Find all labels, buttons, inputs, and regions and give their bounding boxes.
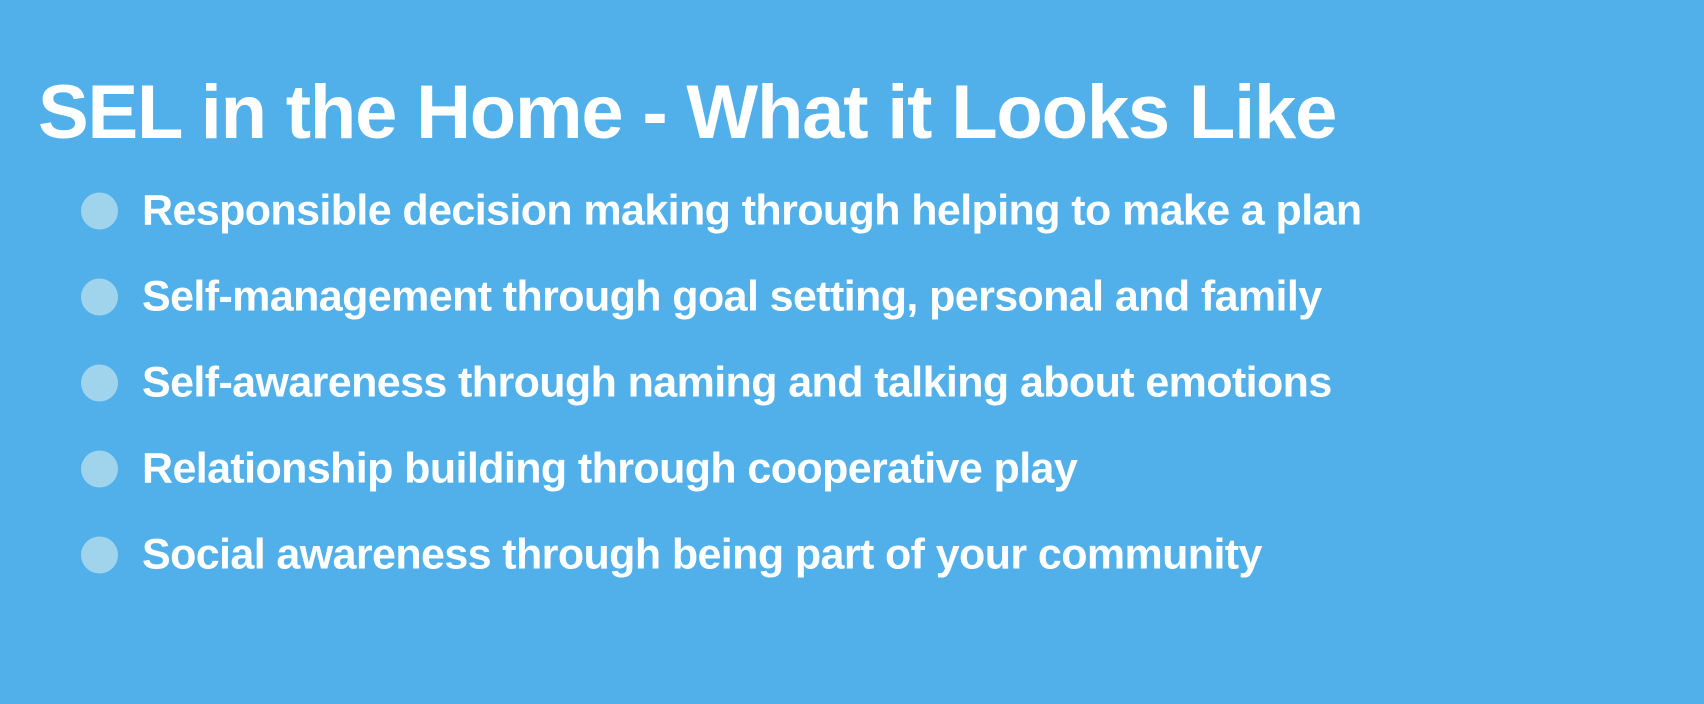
list-item: Social awareness through being part of y… (0, 512, 1704, 598)
list-item-label: Self-management through goal setting, pe… (142, 274, 1322, 319)
list-item: Self-awareness through naming and talkin… (0, 340, 1704, 426)
filled-circle-icon (81, 537, 118, 574)
list-item: Responsible decision making through help… (0, 168, 1704, 254)
list-item: Relationship building through cooperativ… (0, 426, 1704, 512)
list-item-label: Social awareness through being part of y… (142, 532, 1262, 577)
filled-circle-icon (81, 279, 118, 316)
list-item: Self-management through goal setting, pe… (0, 254, 1704, 340)
filled-circle-icon (81, 451, 118, 488)
list-item-label: Responsible decision making through help… (142, 188, 1362, 233)
filled-circle-icon (81, 365, 118, 402)
bullet-list: Responsible decision making through help… (0, 168, 1704, 598)
presentation-slide: SEL in the Home - What it Looks Like Res… (0, 0, 1704, 704)
list-item-label: Relationship building through cooperativ… (142, 446, 1077, 491)
page-title: SEL in the Home - What it Looks Like (38, 75, 1658, 151)
list-item-label: Self-awareness through naming and talkin… (142, 360, 1332, 405)
filled-circle-icon (81, 193, 118, 230)
